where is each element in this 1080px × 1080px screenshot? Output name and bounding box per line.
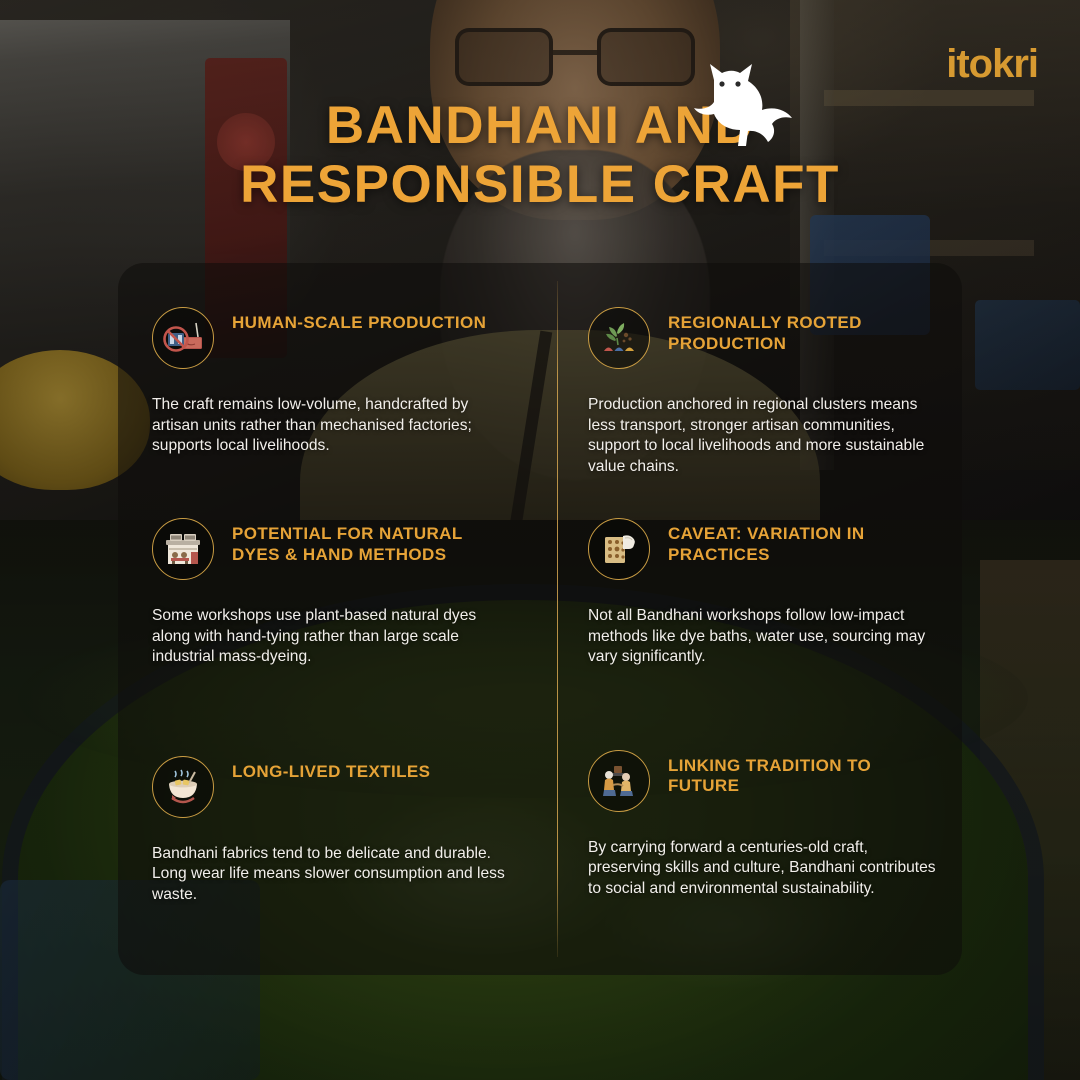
hand-holding-patterned-fabric-icon — [588, 518, 650, 580]
workshop-building-icon — [152, 518, 214, 580]
two-artisans-icon — [588, 750, 650, 812]
card-long-lived-textiles: LONG-LIVED TEXTILES Bandhani fabrics ten… — [118, 738, 540, 975]
no-factory-icon — [152, 307, 214, 369]
card-body: Some workshops use plant-based natural d… — [152, 606, 514, 668]
page-title: BANDHANI AND RESPONSIBLE CRAFT — [0, 96, 1080, 215]
card-title: HUMAN-SCALE PRODUCTION — [232, 307, 486, 334]
card-title: LONG-LIVED TEXTILES — [232, 756, 430, 783]
card-title: LINKING TRADITION TO FUTURE — [668, 750, 942, 797]
card-header: CAVEAT: VARIATION IN PRACTICES — [588, 518, 942, 580]
card-header: HUMAN-SCALE PRODUCTION — [152, 307, 514, 369]
sprout-and-dye-mounds-icon — [588, 307, 650, 369]
card-header: POTENTIAL FOR NATURAL DYES & HAND METHOD… — [152, 518, 514, 580]
cards-grid: HUMAN-SCALE PRODUCTION The craft remains… — [118, 263, 962, 975]
card-caveat-variation-in-practices: CAVEAT: VARIATION IN PRACTICES Not all B… — [540, 500, 962, 737]
card-natural-dyes-hand-methods: POTENTIAL FOR NATURAL DYES & HAND METHOD… — [118, 500, 540, 737]
card-header: LINKING TRADITION TO FUTURE — [588, 750, 942, 812]
page-title-line-2: RESPONSIBLE CRAFT — [0, 155, 1080, 214]
card-title: REGIONALLY ROOTED PRODUCTION — [668, 307, 942, 354]
card-body: The craft remains low-volume, handcrafte… — [152, 395, 514, 457]
brand-logo-text: itokri — [946, 44, 1038, 84]
card-body: Bandhani fabrics tend to be delicate and… — [152, 844, 514, 906]
card-title: CAVEAT: VARIATION IN PRACTICES — [668, 518, 942, 565]
card-human-scale-production: HUMAN-SCALE PRODUCTION The craft remains… — [118, 263, 540, 500]
card-header: LONG-LIVED TEXTILES — [152, 756, 514, 818]
brand-logo[interactable]: itokri — [946, 44, 1038, 84]
steaming-dye-pot-icon — [152, 756, 214, 818]
card-regionally-rooted-production: REGIONALLY ROOTED PRODUCTION Production … — [540, 263, 962, 500]
page-title-line-1: BANDHANI AND — [0, 96, 1080, 155]
card-body: By carrying forward a centuries-old craf… — [588, 838, 942, 900]
card-title: POTENTIAL FOR NATURAL DYES & HAND METHOD… — [232, 518, 502, 565]
cat-silhouette-icon — [688, 60, 798, 150]
card-body: Production anchored in regional clusters… — [588, 395, 942, 477]
card-body: Not all Bandhani workshops follow low-im… — [588, 606, 942, 668]
card-header: REGIONALLY ROOTED PRODUCTION — [588, 307, 942, 369]
card-linking-tradition-to-future: LINKING TRADITION TO FUTURE By carrying … — [540, 738, 962, 975]
content-panel: HUMAN-SCALE PRODUCTION The craft remains… — [118, 263, 962, 975]
